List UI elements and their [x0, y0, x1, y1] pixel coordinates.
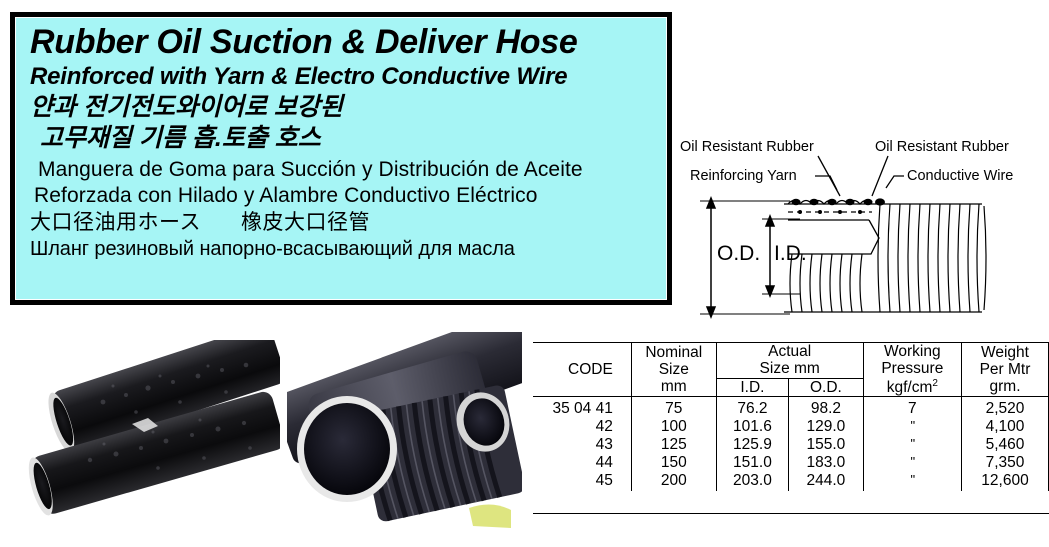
- catalog-page: Rubber Oil Suction & Deliver Hose Reinfo…: [0, 0, 1049, 547]
- header-working-pressure-line3: kgf/cm2: [864, 378, 961, 397]
- spanish-title-line-2: Reforzada con Hilado y Alambre Conductiv…: [30, 185, 652, 206]
- cell-weight: 12,600: [962, 472, 1049, 491]
- japanese-title: 大口径油用ホース: [30, 211, 201, 234]
- korean-title-line-1: 얀과 전기전도와이어로 보강된: [30, 95, 652, 120]
- cell-working-pressure: ": [863, 454, 961, 472]
- table-header-row-main: CODE Nominal Size mm Actual Size mm Work…: [533, 343, 1049, 379]
- cell-working-pressure: 7: [863, 397, 961, 418]
- cell-actual-od: 155.0: [789, 436, 864, 454]
- header-weight-line1: Weight: [962, 344, 1048, 361]
- header-nominal-size-line2: Size: [632, 361, 716, 378]
- hose-construction-diagram: Oil Resistant Rubber Oil Resistant Rubbe…: [672, 132, 1049, 328]
- title-box: Rubber Oil Suction & Deliver Hose Reinfo…: [10, 12, 672, 305]
- table-row: 42100101.6129.0"4,100: [533, 418, 1049, 436]
- callout-label-conductive-wire: Conductive Wire: [907, 168, 1013, 184]
- header-actual-od: O.D.: [789, 378, 864, 396]
- table-body: 35 04 417576.298.272,52042100101.6129.0"…: [533, 397, 1049, 491]
- chinese-title: 橡皮大口径管: [241, 211, 370, 234]
- header-working-pressure-line1: Working: [864, 343, 961, 360]
- korean-title-line-2: 고무재질 기름 흡.토출 호스: [30, 126, 652, 151]
- od-dimension-label: O.D.: [717, 242, 760, 265]
- header-weight-line2: Per Mtr: [962, 361, 1048, 378]
- cell-nominal-size: 75: [631, 397, 716, 418]
- cell-actual-id: 151.0: [716, 454, 788, 472]
- cell-working-pressure: ": [863, 418, 961, 436]
- cell-code: 42: [533, 418, 631, 436]
- header-actual-size: Actual Size mm: [716, 343, 863, 379]
- cell-code: 45: [533, 472, 631, 491]
- header-working-pressure-line2: Pressure: [864, 360, 961, 377]
- cell-actual-od: 244.0: [789, 472, 864, 491]
- cell-working-pressure: ": [863, 436, 961, 454]
- cell-actual-id: 76.2: [716, 397, 788, 418]
- cell-nominal-size: 100: [631, 418, 716, 436]
- specification-table: CODE Nominal Size mm Actual Size mm Work…: [533, 342, 1049, 491]
- table-row: 44150151.0183.0"7,350: [533, 454, 1049, 472]
- header-actual-id: I.D.: [716, 378, 788, 396]
- table-bottom-rule: [533, 513, 1049, 514]
- callout-label-oil-resistant-rubber-right: Oil Resistant Rubber: [875, 139, 1009, 155]
- header-nominal-size: Nominal Size mm: [631, 343, 716, 397]
- background-color-patch: [469, 504, 511, 528]
- product-subtitle: Reinforced with Yarn & Electro Conductiv…: [30, 65, 652, 89]
- cell-working-pressure: ": [863, 472, 961, 491]
- cjk-title-line: 大口径油用ホース橡皮大口径管: [30, 212, 652, 233]
- table-row: 45200203.0244.0"12,600: [533, 472, 1049, 491]
- cell-actual-od: 98.2: [789, 397, 864, 418]
- product-photo-straight-hoses: [8, 340, 280, 540]
- cell-actual-id: 101.6: [716, 418, 788, 436]
- header-pressure-superscript: 2: [932, 378, 938, 389]
- callout-label-oil-resistant-rubber-left: Oil Resistant Rubber: [680, 139, 814, 155]
- header-nominal-size-line3: mm: [632, 378, 716, 395]
- product-photo-corrugated-hose: [287, 332, 522, 542]
- cell-nominal-size: 125: [631, 436, 716, 454]
- header-nominal-size-line1: Nominal: [632, 344, 716, 361]
- title-box-inner: Rubber Oil Suction & Deliver Hose Reinfo…: [15, 17, 667, 300]
- header-working-pressure: Working Pressure kgf/cm2: [863, 343, 961, 397]
- cell-weight: 4,100: [962, 418, 1049, 436]
- cell-actual-id: 125.9: [716, 436, 788, 454]
- spanish-title-line-1: Manguera de Goma para Succión y Distribu…: [30, 159, 652, 180]
- cell-weight: 2,520: [962, 397, 1049, 418]
- cell-actual-od: 129.0: [789, 418, 864, 436]
- hose-bore-opening: [297, 396, 397, 502]
- table-header: CODE Nominal Size mm Actual Size mm Work…: [533, 343, 1049, 397]
- cell-weight: 5,460: [962, 436, 1049, 454]
- cell-actual-id: 203.0: [716, 472, 788, 491]
- russian-title: Шланг резиновый напорно-всасывающий для …: [30, 239, 652, 259]
- header-code: CODE: [533, 343, 631, 397]
- cell-nominal-size: 150: [631, 454, 716, 472]
- callout-label-reinforcing-yarn: Reinforcing Yarn: [690, 168, 797, 184]
- cell-actual-od: 183.0: [789, 454, 864, 472]
- header-actual-size-line2: Size mm: [717, 360, 863, 377]
- cell-code: 44: [533, 454, 631, 472]
- header-weight-line3: grm.: [962, 378, 1048, 395]
- cell-code: 43: [533, 436, 631, 454]
- table-row: 43125125.9155.0"5,460: [533, 436, 1049, 454]
- callout-leader-lines: [815, 156, 904, 196]
- product-main-title: Rubber Oil Suction & Deliver Hose: [30, 25, 652, 59]
- header-weight-per-meter: Weight Per Mtr grm.: [962, 343, 1049, 397]
- cell-nominal-size: 200: [631, 472, 716, 491]
- table-row: 35 04 417576.298.272,520: [533, 397, 1049, 418]
- cell-code: 35 04 41: [533, 397, 631, 418]
- cell-weight: 7,350: [962, 454, 1049, 472]
- header-actual-size-line1: Actual: [717, 343, 863, 360]
